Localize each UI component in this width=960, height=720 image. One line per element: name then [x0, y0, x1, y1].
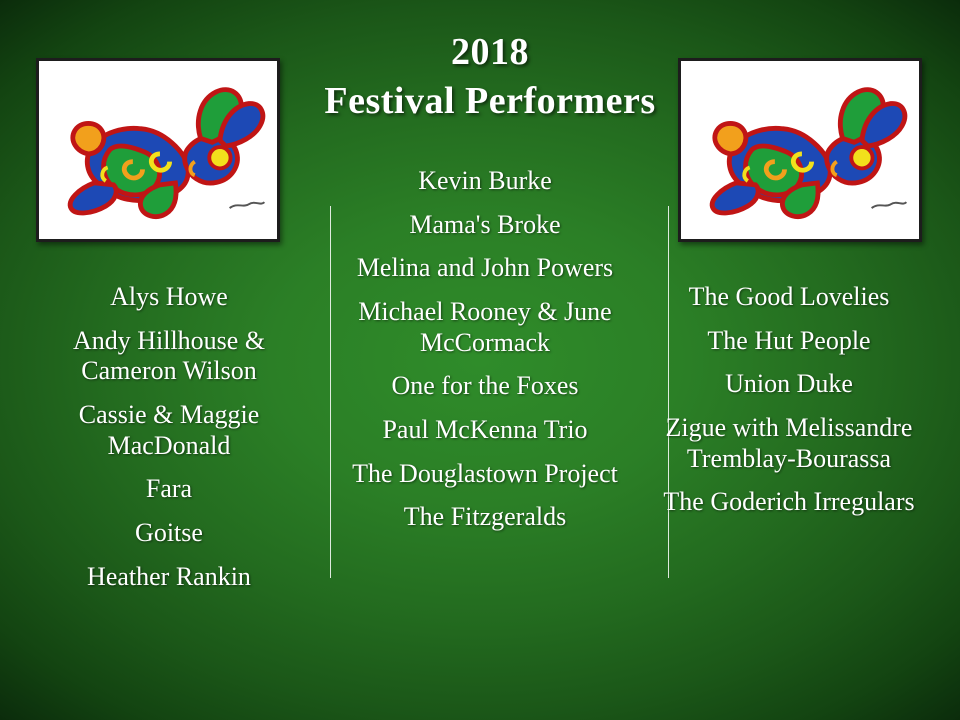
list-item: Mama's Broke: [340, 210, 630, 241]
list-item: Melina and John Powers: [340, 253, 630, 284]
list-item: Zigue with Melissandre Tremblay-Bourassa: [652, 413, 926, 474]
list-item: The Good Lovelies: [652, 282, 926, 313]
title-line-1: 2018: [300, 28, 680, 77]
performer-column-center: Kevin Burke Mama's Broke Melina and John…: [340, 166, 630, 546]
list-item: The Douglastown Project: [340, 459, 630, 490]
page-title: 2018 Festival Performers: [300, 28, 680, 125]
celtic-rabbit-icon: [681, 61, 919, 239]
list-item: Cassie & Maggie MacDonald: [34, 400, 304, 461]
list-item: Goitse: [34, 518, 304, 549]
list-item: The Fitzgeralds: [340, 502, 630, 533]
celtic-rabbit-icon: [39, 61, 277, 239]
list-item: The Hut People: [652, 326, 926, 357]
list-item: Paul McKenna Trio: [340, 415, 630, 446]
rabbit-image-left: [36, 58, 280, 242]
list-item: Heather Rankin: [34, 562, 304, 593]
title-line-2: Festival Performers: [300, 77, 680, 126]
performer-column-left: Alys Howe Andy Hillhouse & Cameron Wilso…: [34, 282, 304, 605]
performer-column-right: The Good Lovelies The Hut People Union D…: [652, 282, 926, 531]
list-item: The Goderich Irregulars: [652, 487, 926, 518]
column-divider-left: [330, 206, 331, 578]
rabbit-image-right: [678, 58, 922, 242]
list-item: One for the Foxes: [340, 371, 630, 402]
list-item: Michael Rooney & June McCormack: [340, 297, 630, 358]
list-item: Andy Hillhouse & Cameron Wilson: [34, 326, 304, 387]
list-item: Kevin Burke: [340, 166, 630, 197]
list-item: Union Duke: [652, 369, 926, 400]
presentation-slide: 2018 Festival Performers: [0, 0, 960, 720]
list-item: Alys Howe: [34, 282, 304, 313]
list-item: Fara: [34, 474, 304, 505]
